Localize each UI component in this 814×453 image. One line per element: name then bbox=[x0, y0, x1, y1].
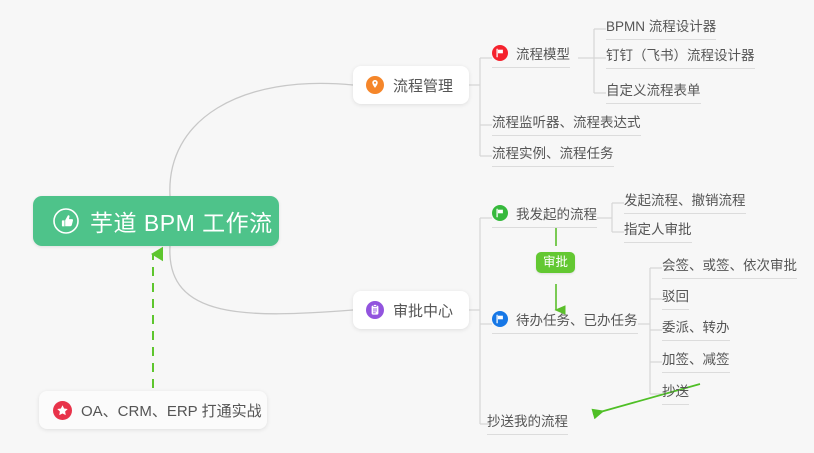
mindmap-canvas: 芋道 BPM 工作流 流程管理 审批中心 bbox=[0, 0, 814, 453]
thumbs-up-icon bbox=[53, 208, 79, 234]
node-todo-done-tasks[interactable]: 待办任务、已办任务 bbox=[492, 309, 638, 334]
leaf-custom-process-form[interactable]: 自定义流程表单 bbox=[606, 79, 701, 104]
leaf-start-cancel-process[interactable]: 发起流程、撤销流程 bbox=[624, 189, 746, 214]
root-node[interactable]: 芋道 BPM 工作流 bbox=[33, 196, 279, 246]
node-label: 流程模型 bbox=[516, 43, 570, 63]
leaf-reject[interactable]: 驳回 bbox=[662, 285, 689, 310]
flag-icon bbox=[492, 45, 508, 61]
callout-label: OA、CRM、ERP 打通实战 bbox=[81, 400, 262, 421]
branch-label: 流程管理 bbox=[393, 75, 453, 96]
flag-icon bbox=[492, 311, 508, 327]
flag-icon bbox=[492, 205, 508, 221]
clipboard-icon bbox=[366, 301, 384, 319]
branch-label: 审批中心 bbox=[393, 300, 453, 321]
node-label: 我发起的流程 bbox=[516, 203, 597, 223]
node-my-initiated-processes[interactable]: 我发起的流程 bbox=[492, 203, 597, 228]
location-pin-icon bbox=[366, 76, 384, 94]
link-root-to-approval-center bbox=[170, 246, 353, 314]
leaf-dingtalk-feishu-designer[interactable]: 钉钉（飞书）流程设计器 bbox=[606, 44, 755, 69]
star-icon bbox=[53, 401, 72, 420]
leaf-copy-to[interactable]: 抄送 bbox=[662, 380, 689, 405]
node-label: 待办任务、已办任务 bbox=[516, 309, 638, 329]
integration-callout-card[interactable]: OA、CRM、ERP 打通实战 bbox=[39, 391, 267, 429]
branch-node-process-management[interactable]: 流程管理 bbox=[353, 66, 469, 104]
approval-annotation-badge: 审批 bbox=[536, 252, 575, 273]
branch-node-approval-center[interactable]: 审批中心 bbox=[353, 291, 469, 329]
leaf-process-listener[interactable]: 流程监听器、流程表达式 bbox=[492, 111, 641, 136]
node-process-model[interactable]: 流程模型 bbox=[492, 43, 570, 68]
root-label: 芋道 BPM 工作流 bbox=[90, 204, 273, 238]
leaf-countersign[interactable]: 会签、或签、依次审批 bbox=[662, 254, 797, 279]
leaf-delegate-transfer[interactable]: 委派、转办 bbox=[662, 316, 730, 341]
leaf-bpmn-designer[interactable]: BPMN 流程设计器 bbox=[606, 15, 716, 40]
leaf-process-instance[interactable]: 流程实例、流程任务 bbox=[492, 142, 614, 167]
leaf-add-remove-sign[interactable]: 加签、减签 bbox=[662, 348, 730, 373]
link-root-to-process-mgmt bbox=[170, 83, 353, 196]
leaf-processes-copied-to-me[interactable]: 抄送我的流程 bbox=[487, 410, 568, 435]
leaf-assignee-approval[interactable]: 指定人审批 bbox=[624, 218, 692, 243]
